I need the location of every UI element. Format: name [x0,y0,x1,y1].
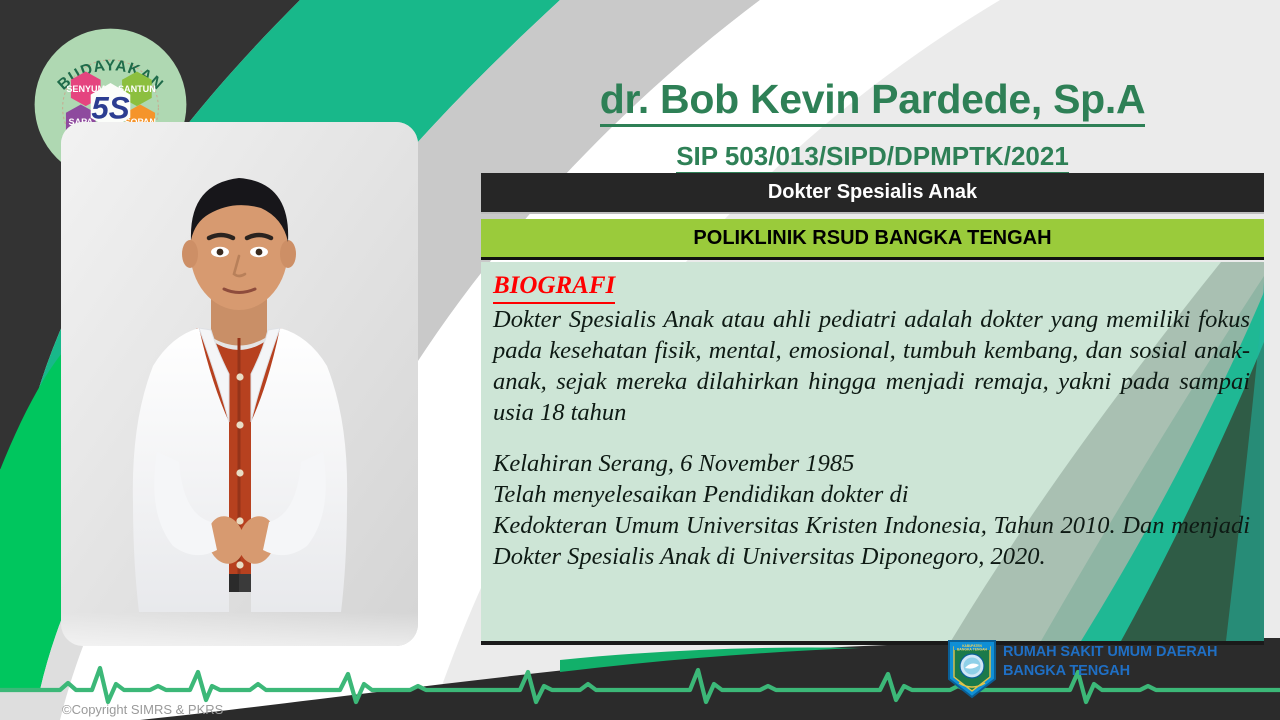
biography-education-line: Telah menyelesaikan Pendidikan dokter di [493,480,1250,511]
logo-center-text: 5S [91,91,129,126]
biography-paragraph-1: Dokter Spesialis Anak atau ahli pediatri… [493,305,1250,429]
specialty-bar: Dokter Spesialis Anak [481,173,1264,212]
biography-birth-line: Kelahiran Serang, 6 November 1985 [493,449,1250,480]
shield-emblem-icon: KABUPATEN BANGKA TENGAH [947,639,997,699]
hospital-name: RUMAH SAKIT UMUM DAERAH BANGKA TENGAH [1003,643,1217,680]
biography-heading: BIOGRAFI [493,270,615,304]
biography-heading-wrap: BIOGRAFI [493,270,1250,305]
doctor-photo-card [61,122,418,646]
hospital-name-line1: RUMAH SAKIT UMUM DAERAH [1003,643,1217,662]
copyright-text: ©Copyright SIMRS & PKRS [62,702,223,717]
doctor-portrait-image [61,122,418,646]
doctor-sip-number: SIP 503/013/SIPD/DPMPTK/2021 [481,141,1264,172]
clinic-label: POLIKLINIK RSUD BANGKA TENGAH [693,227,1051,250]
svg-text:BANGKA TENGAH: BANGKA TENGAH [957,648,988,652]
biography-paragraph-2: Kedokteran Umum Universitas Kristen Indo… [493,511,1250,573]
photo-reflection [61,612,418,646]
hospital-name-line2: BANGKA TENGAH [1003,662,1217,681]
doctor-sip-text: SIP 503/013/SIPD/DPMPTK/2021 [676,141,1069,174]
slide-canvas: BUDAYAKAN SENYUM SANTUN SAPA SOPAN SALAM [0,0,1280,720]
biography-panel: BIOGRAFI Dokter Spesialis Anak atau ahli… [481,262,1264,645]
doctor-name: dr. Bob Kevin Pardede, Sp.A [481,76,1264,123]
biography-spacer [493,429,1250,449]
specialty-label: Dokter Spesialis Anak [768,181,977,204]
doctor-name-text: dr. Bob Kevin Pardede, Sp.A [600,76,1146,127]
biography-text-block: BIOGRAFI Dokter Spesialis Anak atau ahli… [481,262,1264,573]
clinic-bar: POLIKLINIK RSUD BANGKA TENGAH [481,219,1264,260]
